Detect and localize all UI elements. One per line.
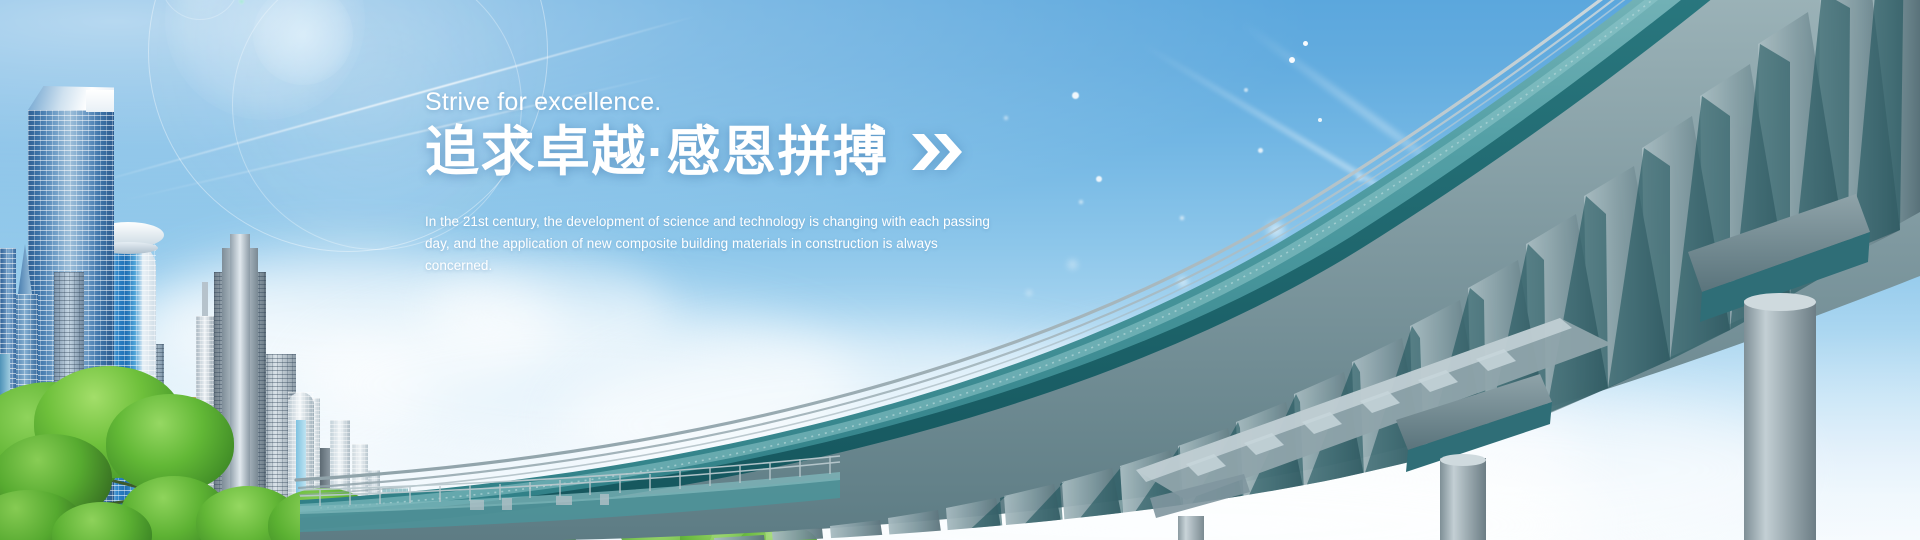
- banner-headline-row: 追求卓越·感恩拼搏: [425, 123, 1065, 181]
- banner-headline: 追求卓越·感恩拼搏: [425, 123, 888, 181]
- hero-banner: Strive for excellence. 追求卓越·感恩拼搏 In the …: [0, 0, 1920, 540]
- bridge-pier-right: [1688, 194, 1870, 540]
- banner-text-block: Strive for excellence. 追求卓越·感恩拼搏 In the …: [425, 88, 1065, 277]
- banner-paragraph: In the 21st century, the development of …: [425, 211, 1000, 277]
- banner-eyebrow: Strive for excellence.: [425, 88, 1065, 117]
- double-chevron-right-icon[interactable]: [910, 132, 964, 172]
